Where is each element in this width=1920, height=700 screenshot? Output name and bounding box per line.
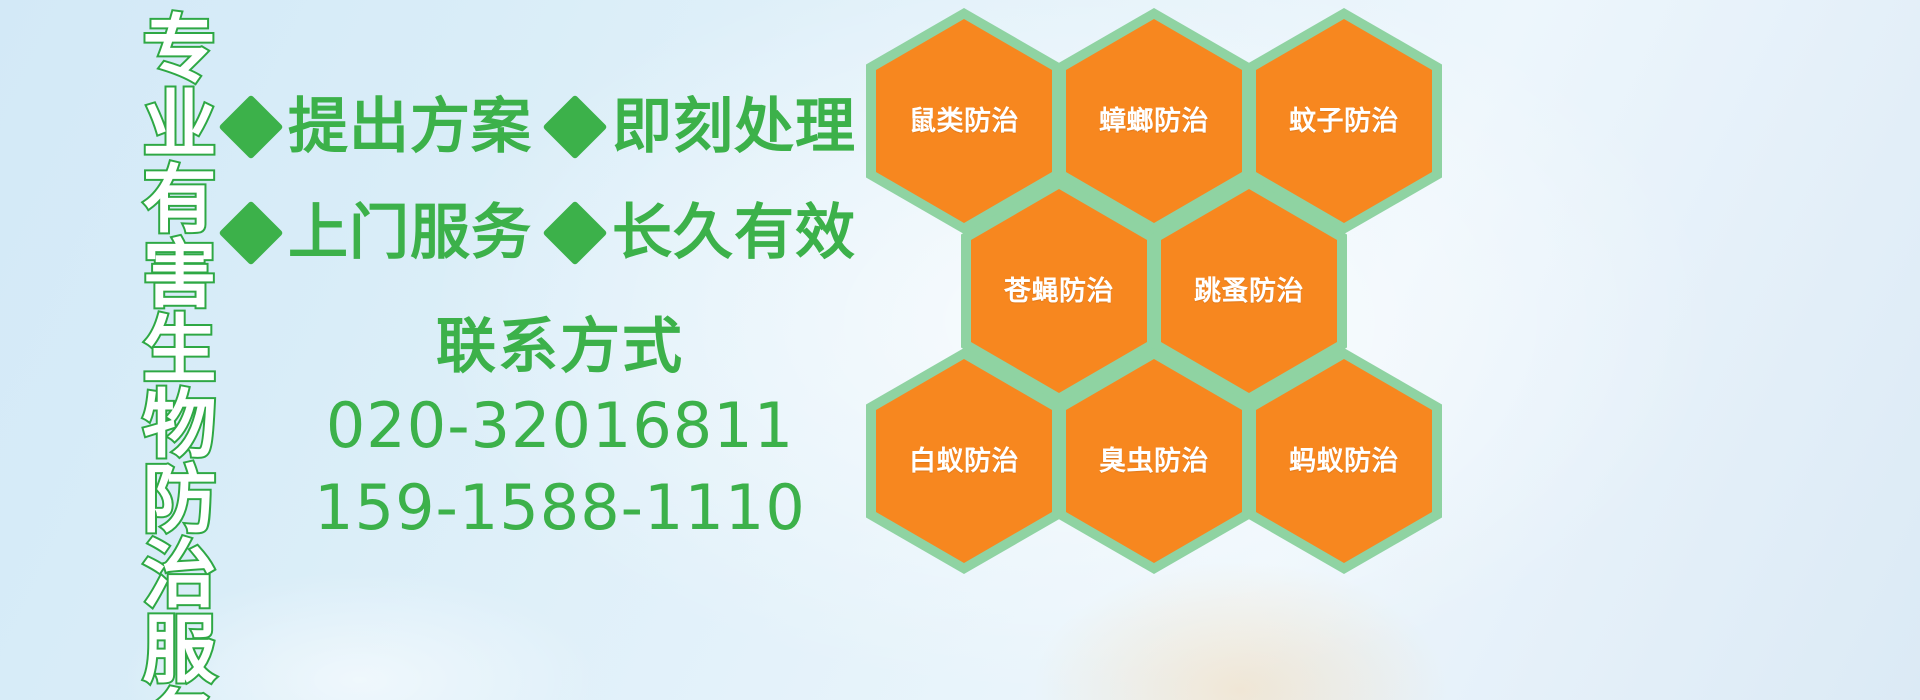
hexagon-inner: 蚊子防治	[1256, 19, 1432, 223]
feature-item: 上门服务	[228, 203, 532, 263]
hexagon-inner: 臭虫防治	[1066, 359, 1242, 563]
phone-number-mobile[interactable]: 159-1588-1110	[300, 467, 820, 549]
feature-label: 长久有效	[612, 203, 856, 263]
feature-label: 即刻处理	[612, 97, 856, 157]
service-label: 鼠类防治	[909, 108, 1019, 135]
diamond-icon	[542, 94, 607, 159]
feature-item: 长久有效	[552, 203, 856, 263]
service-label: 臭虫防治	[1099, 448, 1209, 475]
service-label: 蟑螂防治	[1099, 108, 1209, 135]
feature-row: 上门服务 长久有效	[228, 180, 868, 286]
hexagon-inner: 白蚁防治	[876, 359, 1052, 563]
hexagon-inner: 跳蚤防治	[1161, 189, 1337, 393]
vertical-headline: 专业有害生物防治服务	[106, 10, 210, 670]
contact-title: 联系方式	[300, 310, 820, 385]
feature-row: 提出方案 即刻处理	[228, 74, 868, 180]
service-label: 蚊子防治	[1289, 108, 1399, 135]
diamond-icon	[218, 94, 283, 159]
phone-number-landline[interactable]: 020-32016811	[300, 385, 820, 467]
feature-item: 提出方案	[228, 97, 532, 157]
hexagon-inner: 鼠类防治	[876, 19, 1052, 223]
service-label: 蚂蚁防治	[1289, 448, 1399, 475]
service-hexagon-grid: 鼠类防治 蟑螂防治 蚊子防治 苍蝇防治 跳蚤防治 白蚁防治	[862, 0, 1502, 700]
hexagon-inner: 苍蝇防治	[971, 189, 1147, 393]
diamond-icon	[542, 200, 607, 265]
feature-label: 上门服务	[288, 203, 532, 263]
feature-label: 提出方案	[288, 97, 532, 157]
diamond-icon	[218, 200, 283, 265]
feature-list: 提出方案 即刻处理 上门服务 长久有效	[228, 74, 868, 286]
service-label: 跳蚤防治	[1194, 278, 1304, 305]
hexagon-inner: 蟑螂防治	[1066, 19, 1242, 223]
contact-block: 联系方式 020-32016811 159-1588-1110	[300, 310, 820, 549]
service-label: 白蚁防治	[909, 448, 1019, 475]
hexagon-inner: 蚂蚁防治	[1256, 359, 1432, 563]
service-label: 苍蝇防治	[1004, 278, 1114, 305]
pest-control-banner: 专业有害生物防治服务 提出方案 即刻处理 上门服务 长久有效 联	[0, 0, 1920, 700]
feature-item: 即刻处理	[552, 97, 856, 157]
